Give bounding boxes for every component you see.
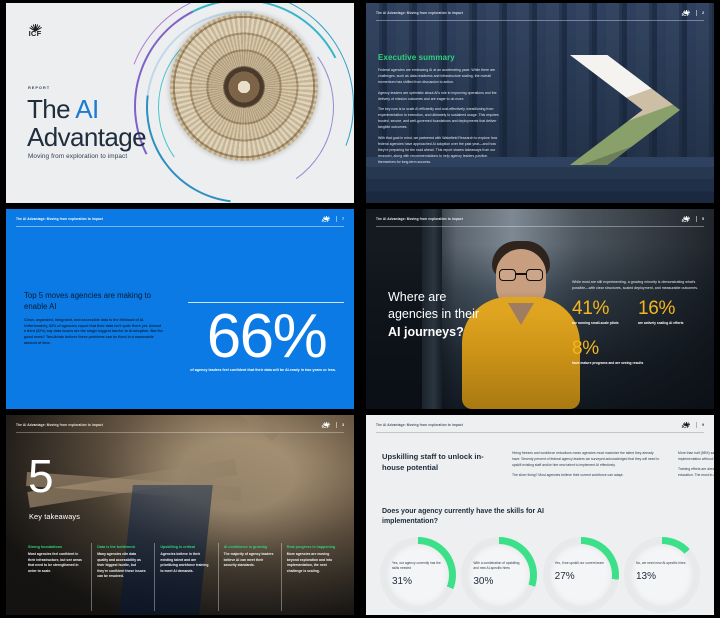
stat-value: 16%	[638, 299, 700, 318]
top-moves-panel: Top 5 moves agencies are making to enabl…	[24, 291, 164, 347]
stat-pilots: 41% are running small-scale pilots	[572, 299, 634, 326]
icf-logo: ICF	[680, 420, 691, 430]
icf-burst-icon	[680, 8, 691, 14]
paragraph: The key now is to scale AI efficiently a…	[378, 106, 504, 130]
header-rule	[16, 226, 344, 227]
takeaway-body: Many agencies cite data quality and acce…	[97, 552, 147, 580]
executive-summary-panel: Executive summary Federal agencies are e…	[378, 53, 504, 169]
slide-cell-top-5-moves: The AI Advantage: Moving from exploratio…	[0, 206, 360, 412]
takeaway-card: Upskilling is critical Agencies believe …	[154, 543, 217, 611]
dome-photo	[170, 13, 318, 161]
donut-value: 31%	[392, 576, 442, 587]
stat-label: have mature programs and are seeing resu…	[572, 361, 646, 366]
body-column-left: Hiring freezes and workforce reductions …	[512, 451, 662, 483]
paragraph: More than half (58%) say they either hav…	[678, 451, 714, 463]
paragraph: Federal agencies are embracing AI at an …	[378, 67, 504, 85]
page-number: 5	[702, 217, 704, 221]
takeaway-title: Real progress is happening	[287, 545, 337, 549]
paragraph: Training efforts are already underway, w…	[678, 467, 714, 479]
slide-upskilling[interactable]: The AI Advantage: Moving from exploratio…	[366, 415, 714, 615]
report-eyebrow: REPORT	[28, 85, 50, 90]
takeaway-body: The majority of agency leaders believe A…	[224, 552, 274, 569]
donut-label: No, we need new AI-specific hires	[636, 561, 686, 566]
icf-burst-icon	[320, 214, 331, 220]
stat-scaling: 16% are actively scaling AI efforts	[638, 299, 700, 326]
takeaway-title: Data is the bottleneck	[97, 545, 147, 549]
takeaway-cards: Strong foundations Most agencies feel co…	[28, 543, 344, 611]
page-title: The AI Advantage	[27, 95, 146, 151]
big-number-label: Key takeaways	[29, 512, 80, 521]
running-header: The AI Advantage: Moving from exploratio…	[376, 423, 463, 427]
donut-chart[interactable]: With a combination of upskilling and new…	[461, 537, 537, 613]
takeaway-card: AI confidence is growing The majority of…	[218, 543, 281, 611]
header-rule	[376, 226, 704, 227]
slide-cover[interactable]: ICF REPORT The AI Advantage Moving from …	[6, 3, 354, 203]
donut-value: 27%	[555, 571, 605, 582]
slide-cell-executive-summary: The AI Advantage: Moving from exploratio…	[360, 0, 720, 206]
glasses-icon	[499, 269, 543, 281]
stat-label: are actively scaling AI efforts	[638, 321, 700, 326]
page-number: 2	[702, 11, 704, 15]
slide-cell-key-takeaways: The AI Advantage: Moving from exploratio…	[0, 412, 360, 618]
takeaway-body: Most agencies feel confident in their in…	[28, 552, 84, 574]
body-column-right: More than half (58%) say they either hav…	[678, 451, 714, 483]
page-number: 7	[342, 217, 344, 221]
big-number: 5	[28, 453, 54, 499]
slide-key-takeaways[interactable]: The AI Advantage: Moving from exploratio…	[6, 415, 354, 615]
big-stat-caption: of agency leaders feel confident that th…	[176, 367, 336, 373]
page-number: 3	[342, 423, 344, 427]
page-number: 9	[702, 423, 704, 427]
slide-cell-upskilling: The AI Advantage: Moving from exploratio…	[360, 412, 720, 618]
icf-burst-icon	[320, 420, 331, 426]
donut-chart[interactable]: Yes, our agency currently has the skills…	[380, 537, 456, 613]
header-rule	[376, 20, 704, 21]
slide-grid: ICF REPORT The AI Advantage Moving from …	[0, 0, 720, 618]
icf-burst-icon	[680, 214, 691, 220]
donut-label: Yes, our agency currently has the skills…	[392, 561, 442, 571]
title-line-2: agencies in their	[388, 307, 479, 321]
header-divider	[696, 422, 697, 428]
takeaway-card: Real progress is happening More agencies…	[281, 543, 344, 611]
takeaway-body: More agencies are moving beyond explorat…	[287, 552, 337, 574]
icf-logo: ICF	[320, 420, 331, 430]
running-header: The AI Advantage: Moving from exploratio…	[16, 423, 103, 427]
title-the: The	[27, 94, 75, 124]
title-advantage: Advantage	[27, 122, 146, 152]
icf-logo: ICF	[26, 21, 44, 38]
chart-question: Does your agency currently have the skil…	[382, 507, 582, 527]
big-stat-value: 66%	[184, 301, 349, 372]
running-header: The AI Advantage: Moving from exploratio…	[16, 217, 103, 221]
icf-logo: ICF	[680, 8, 691, 18]
slide-cell-ai-journeys: The AI Advantage: Moving from exploratio…	[360, 206, 720, 412]
takeaway-body: Agencies believe in their existing talen…	[160, 552, 210, 574]
donut-label: Yes, if we upskill our current team	[555, 561, 605, 566]
icf-burst-icon	[26, 21, 44, 31]
paragraph: Hiring freezes and workforce reductions …	[512, 451, 662, 469]
title-ai: AI	[75, 94, 98, 124]
takeaway-card: Strong foundations Most agencies feel co…	[28, 543, 91, 611]
paragraph: The silver lining? Most agencies believe…	[512, 473, 662, 479]
donut-chart[interactable]: Yes, if we upskill our current team 27%	[543, 537, 619, 613]
title-line-1: Where are	[388, 290, 446, 304]
slide-top-5-moves[interactable]: The AI Advantage: Moving from exploratio…	[6, 209, 354, 409]
title-line-3: AI journeys?	[388, 325, 464, 339]
slide-ai-journeys[interactable]: The AI Advantage: Moving from exploratio…	[366, 209, 714, 409]
page-title: Where are agencies in their AI journeys?	[388, 289, 518, 341]
header-rule	[376, 432, 704, 433]
header-divider	[696, 216, 697, 222]
body-copy: Clean, organized, integrated, and access…	[24, 318, 164, 347]
takeaway-title: AI confidence is growing	[224, 545, 274, 549]
header-divider	[336, 216, 337, 222]
section-heading: Executive summary	[378, 53, 504, 62]
cover-subtitle: Moving from exploration to impact	[28, 153, 127, 160]
paragraph: With that goal in mind, we partnered wit…	[378, 135, 504, 165]
donut-chart-group: Yes, our agency currently has the skills…	[380, 537, 700, 613]
takeaway-card: Data is the bottleneck Many agencies cit…	[91, 543, 154, 611]
donut-label: With a combination of upskilling and new…	[473, 561, 523, 571]
takeaway-title: Strong foundations	[28, 545, 84, 549]
running-header: The AI Advantage: Moving from exploratio…	[376, 217, 463, 221]
section-heading: Top 5 moves agencies are making to enabl…	[24, 291, 164, 313]
slide-cell-cover: ICF REPORT The AI Advantage Moving from …	[0, 0, 360, 206]
stat-value: 41%	[572, 299, 634, 318]
icf-logo: ICF	[680, 214, 691, 224]
donut-value: 30%	[473, 576, 523, 587]
icf-burst-icon	[680, 420, 691, 426]
donut-chart[interactable]: No, we need new AI-specific hires 13%	[624, 537, 700, 613]
header-divider	[336, 422, 337, 428]
capitol-dome-artwork	[124, 3, 354, 203]
donut-value: 13%	[636, 571, 686, 582]
section-heading: Upskilling staff to unlock in-house pote…	[382, 451, 502, 473]
stat-label: are running small-scale pilots	[572, 321, 634, 326]
stat-value: 8%	[572, 339, 646, 358]
header-rule	[16, 432, 344, 433]
icf-logo: ICF	[320, 214, 331, 224]
slide-executive-summary[interactable]: The AI Advantage: Moving from exploratio…	[366, 3, 714, 203]
stat-mature: 8% have mature programs and are seeing r…	[572, 339, 646, 366]
running-header: The AI Advantage: Moving from exploratio…	[376, 11, 463, 15]
paragraph: Agency leaders are optimistic about AI's…	[378, 90, 504, 102]
intro-copy: While most are still experimenting, a gr…	[572, 279, 702, 292]
header-divider	[696, 10, 697, 16]
takeaway-title: Upskilling is critical	[160, 545, 210, 549]
